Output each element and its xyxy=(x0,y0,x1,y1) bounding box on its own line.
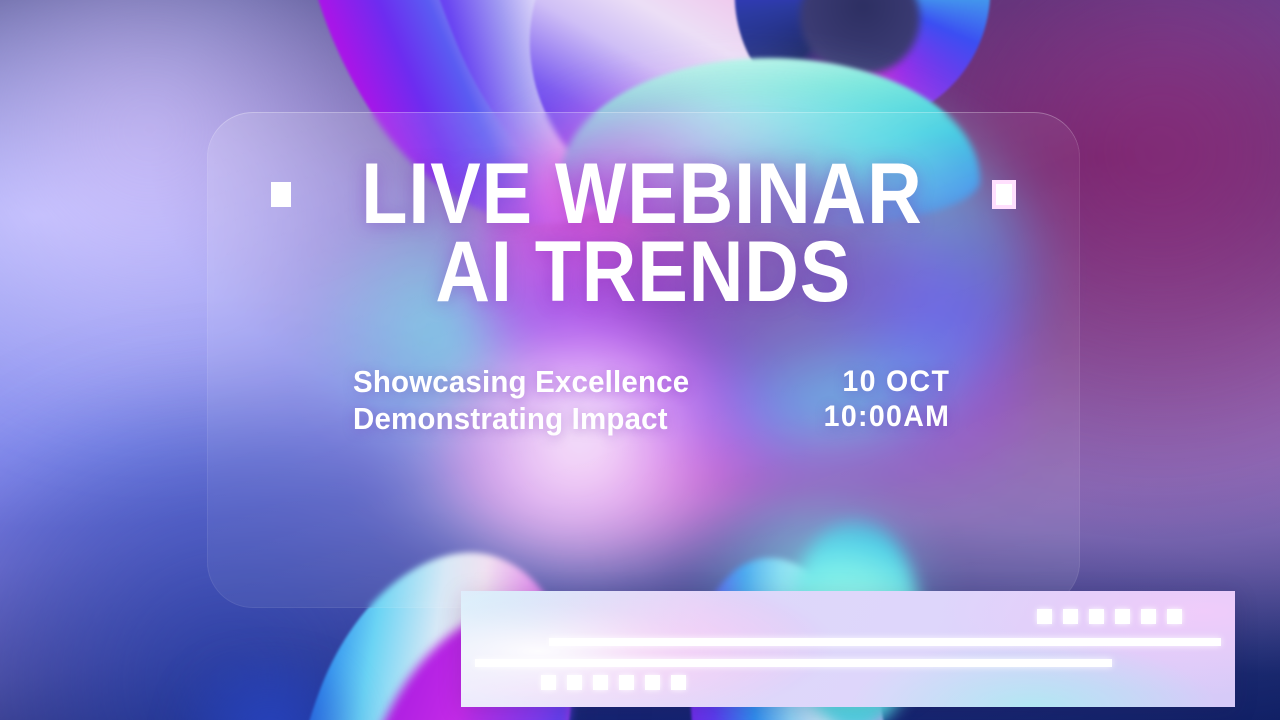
bottom-decorative-panel xyxy=(461,591,1235,707)
page-title-line-2: AI TRENDS xyxy=(436,236,852,310)
glass-card: LIVE WEBINAR AI TRENDS Showcasing Excell… xyxy=(207,112,1080,608)
panel-square-icon xyxy=(671,675,686,690)
panel-square-icon xyxy=(541,675,556,690)
page-title-line-1: LIVE WEBINAR xyxy=(361,158,922,232)
subtitle-text: Showcasing Excellence Demonstrating Impa… xyxy=(353,364,689,437)
title-block: LIVE WEBINAR AI TRENDS xyxy=(207,158,1080,310)
outlined-square-icon xyxy=(992,180,1016,209)
panel-square-icon xyxy=(593,675,608,690)
panel-square-icon xyxy=(1063,609,1078,624)
panel-square-icon xyxy=(1167,609,1182,624)
panel-square-icon xyxy=(1037,609,1052,624)
panel-square-icon xyxy=(1141,609,1156,624)
title-row-primary: LIVE WEBINAR xyxy=(207,158,1080,232)
poster-canvas: LIVE WEBINAR AI TRENDS Showcasing Excell… xyxy=(0,0,1280,720)
event-time: 10:00AM xyxy=(823,399,950,434)
title-row-secondary: AI TRENDS xyxy=(207,232,1080,310)
panel-bar-lower xyxy=(475,659,1112,667)
subtitle-row: Showcasing Excellence Demonstrating Impa… xyxy=(353,364,950,437)
panel-square-row-bottom-left xyxy=(541,675,686,690)
panel-square-icon xyxy=(645,675,660,690)
schedule-text: 10 OCT 10:00AM xyxy=(823,364,950,435)
subtitle-line-2: Demonstrating Impact xyxy=(353,401,689,438)
panel-square-icon xyxy=(1089,609,1104,624)
panel-square-icon xyxy=(1115,609,1130,624)
subtitle-line-1: Showcasing Excellence xyxy=(353,364,689,401)
panel-square-row-top-right xyxy=(1037,609,1182,624)
panel-bar-upper xyxy=(549,638,1221,646)
panel-square-icon xyxy=(567,675,582,690)
panel-square-icon xyxy=(619,675,634,690)
solid-square-icon xyxy=(271,182,291,207)
event-date: 10 OCT xyxy=(823,364,950,399)
